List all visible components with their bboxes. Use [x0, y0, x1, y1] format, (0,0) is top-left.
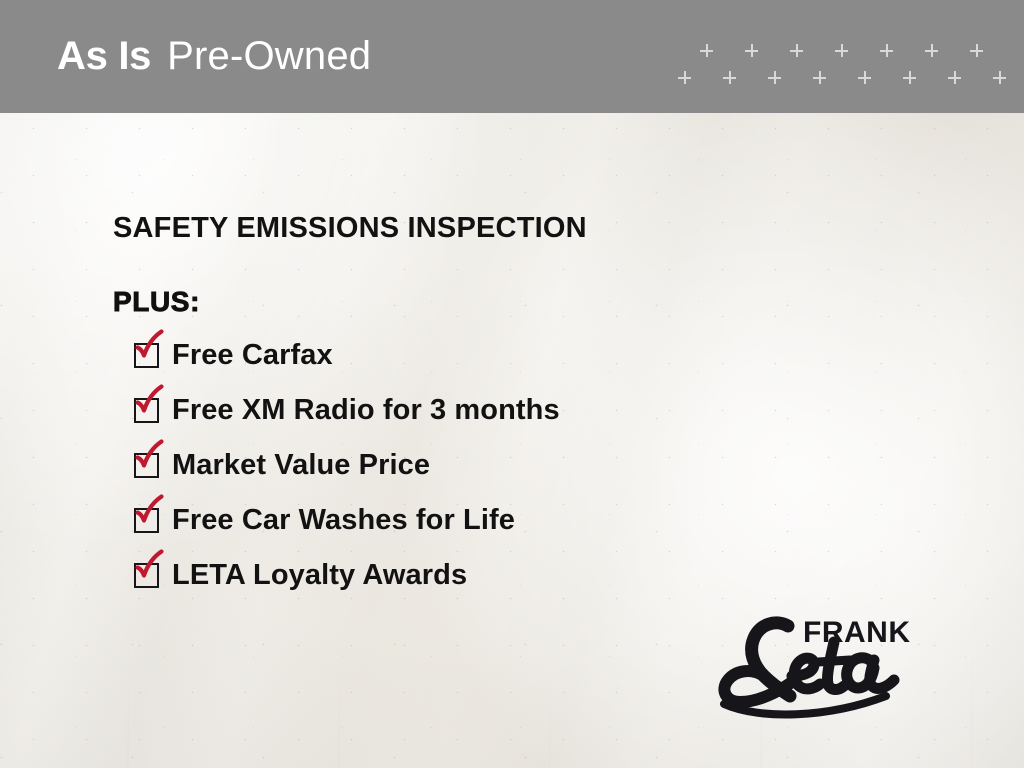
slide-canvas: As IsPre-Owned — [0, 0, 1024, 768]
list-item: LETA Loyalty Awards — [134, 558, 754, 613]
check-tick-icon — [132, 441, 166, 475]
plus-label: PLUS: — [113, 286, 200, 318]
list-item-label: Free XM Radio for 3 months — [172, 393, 560, 427]
list-item-label: Free Car Washes for Life — [172, 503, 515, 537]
section-heading: SAFETY EMISSIONS INSPECTION — [113, 212, 587, 245]
list-item-label: Free Carfax — [172, 338, 333, 372]
check-tick-icon — [132, 386, 166, 420]
list-item: Free XM Radio for 3 months — [134, 393, 754, 448]
checkbox-checked-icon — [134, 453, 160, 479]
checkbox-checked-icon — [134, 398, 160, 424]
list-item: Free Car Washes for Life — [134, 503, 754, 558]
logo-artwork: FRANK — [700, 604, 915, 719]
logo-top-word: FRANK — [803, 616, 911, 649]
list-item-label: Market Value Price — [172, 448, 430, 482]
checkbox-checked-icon — [134, 343, 160, 369]
check-tick-icon — [132, 551, 166, 585]
list-item: Market Value Price — [134, 448, 754, 503]
frank-leta-logo: FRANK — [700, 604, 915, 719]
list-item-label: LETA Loyalty Awards — [172, 558, 467, 592]
checkbox-checked-icon — [134, 508, 160, 534]
check-tick-icon — [132, 496, 166, 530]
checkbox-checked-icon — [134, 563, 160, 589]
list-item: Free Carfax — [134, 338, 754, 393]
check-tick-icon — [132, 331, 166, 365]
benefit-list: Free Carfax Free XM Radio for 3 months — [134, 338, 754, 613]
